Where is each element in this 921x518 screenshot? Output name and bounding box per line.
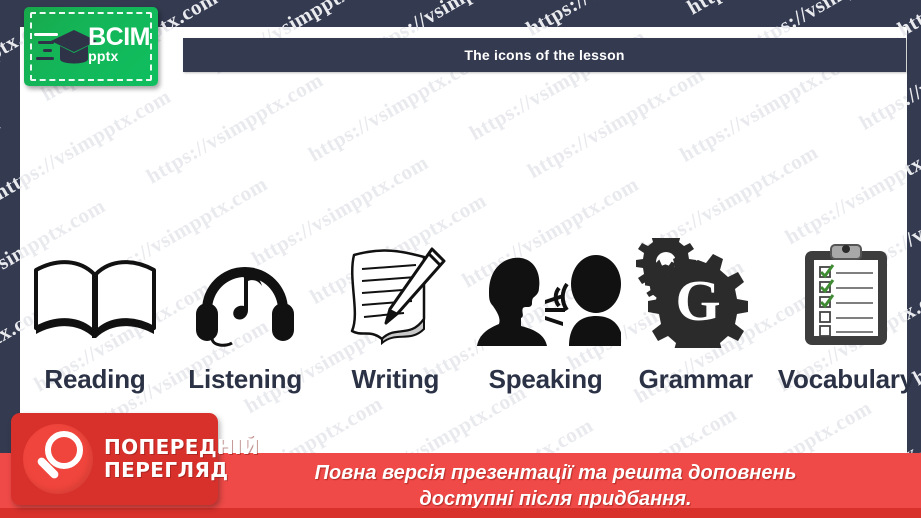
lesson-item-vocabulary[interactable]: Vocabulary	[771, 230, 921, 395]
magnifier-icon	[23, 424, 93, 494]
lesson-label-reading: Reading	[44, 364, 145, 395]
preview-badge-line2: ПЕРЕГЛЯД	[104, 459, 259, 482]
lesson-item-grammar[interactable]: G Grammar	[621, 230, 771, 395]
lesson-icons-row: Reading Listening	[20, 205, 921, 395]
preview-badge[interactable]: ПОПЕРЕДНІЙ ПЕРЕГЛЯД	[11, 413, 218, 505]
clipboard-checklist-icon	[803, 230, 889, 348]
lesson-label-speaking: Speaking	[489, 364, 603, 395]
logo-brand-name: BCIM	[88, 25, 150, 49]
presentation-slide: https://vsimpptx.com https://vsimpptx.co…	[0, 0, 921, 518]
lesson-label-grammar: Grammar	[639, 364, 753, 395]
logo-brand-sub: pptx	[88, 49, 150, 64]
logo-brand: BCIM pptx	[88, 25, 150, 64]
bcim-logo[interactable]: BCIM pptx	[24, 7, 158, 86]
slide-title-bar: The icons of the lesson	[183, 38, 906, 72]
lesson-item-reading[interactable]: Reading	[20, 230, 170, 395]
lesson-item-speaking[interactable]: Speaking	[471, 230, 621, 395]
lesson-label-vocabulary: Vocabulary	[778, 364, 914, 395]
page-title: The icons of the lesson	[464, 47, 624, 63]
gears-letter-g-icon: G	[636, 230, 756, 348]
headphones-music-note-icon	[190, 230, 300, 348]
grammar-letter: G	[675, 268, 720, 333]
two-heads-speaking-icon	[471, 230, 621, 348]
lesson-label-listening: Listening	[188, 364, 302, 395]
lesson-item-writing[interactable]: Writing	[320, 230, 470, 395]
paper-pencil-icon	[340, 230, 450, 348]
lesson-item-listening[interactable]: Listening	[170, 230, 320, 395]
lesson-label-writing: Writing	[352, 364, 440, 395]
bottom-accent-strip	[0, 508, 921, 518]
open-book-icon	[30, 230, 160, 348]
preview-badge-line1: ПОПЕРЕДНІЙ	[104, 436, 259, 459]
preview-badge-text: ПОПЕРЕДНІЙ ПЕРЕГЛЯД	[104, 436, 259, 482]
purchase-notice-line1: Повна версія презентації та решта доповн…	[315, 460, 797, 486]
